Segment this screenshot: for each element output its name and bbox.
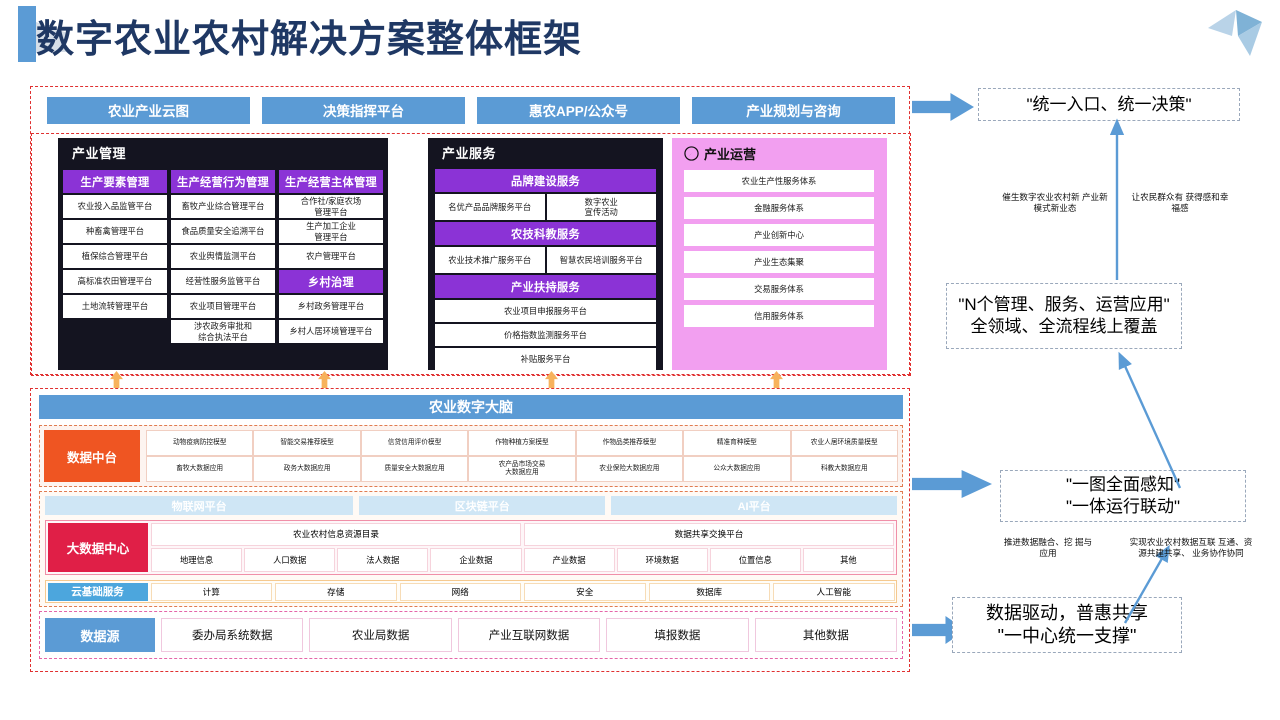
data-platform-app-4[interactable]: 农业保险大数据应用 [576, 456, 683, 482]
callout-one-map-perception: "一图全面感知" "一体运行联动" [1000, 470, 1246, 522]
management-group-head-0: 生产要素管理 [63, 170, 167, 193]
big-data-category-1[interactable]: 数据共享交换平台 [524, 523, 894, 546]
data-platform-model-5[interactable]: 精准育种模型 [683, 430, 790, 456]
data-source-items: 委办局系统数据农业局数据产业互联网数据填报数据其他数据 [161, 618, 897, 652]
service-item-1-1[interactable]: 智慧农民培训服务平台 [547, 247, 657, 273]
operation-item-0[interactable]: 农业生产性服务体系 [684, 170, 874, 192]
note-farmer-benefit: 让农民群众有 获得感和幸福感 [1130, 192, 1230, 215]
industry-operation-items: 农业生产性服务体系金融服务体系产业创新中心产业生态集聚交易服务体系信用服务体系 [684, 170, 874, 327]
management-item-2-0[interactable]: 合作社/家庭农场 管理平台 [279, 195, 383, 218]
app-button-3[interactable]: 产业规划与咨询 [692, 97, 895, 124]
arrow-up-to-applications [1120, 355, 1180, 488]
management-item-1-0[interactable]: 畜牧产业综合管理平台 [171, 195, 275, 218]
tech-platform-row: 物联网平台区块链平台AI平台 [45, 496, 897, 515]
callout-n-applications: "N个管理、服务、运营应用" 全领域、全流程线上覆盖 [946, 283, 1182, 349]
big-data-tag-1[interactable]: 人口数据 [244, 548, 335, 572]
industry-management-title: 产业管理 [58, 138, 388, 166]
management-item-2-2[interactable]: 农户管理平台 [279, 245, 383, 268]
service-item-2-1[interactable]: 价格指数监测服务平台 [435, 324, 656, 346]
service-item-2-0[interactable]: 农业项目申报服务平台 [435, 300, 656, 322]
data-platform-label: 数据中台 [44, 430, 140, 482]
data-platform-model-1[interactable]: 智能交易推荐模型 [253, 430, 360, 456]
service-pair-1: 农业技术推广服务平台智慧农民培训服务平台 [435, 247, 656, 273]
management-item-1-5[interactable]: 涉农政务审批和 综合执法平台 [171, 320, 275, 343]
management-item-0-2[interactable]: 植保综合管理平台 [63, 245, 167, 268]
big-data-tag-6[interactable]: 位置信息 [710, 548, 801, 572]
operation-item-4[interactable]: 交易服务体系 [684, 278, 874, 300]
big-data-tag-2[interactable]: 法人数据 [337, 548, 428, 572]
data-platform-column-4: 作物品类推荐模型农业保险大数据应用 [576, 430, 683, 482]
compass-icon [684, 146, 699, 161]
operation-item-1[interactable]: 金融服务体系 [684, 197, 874, 219]
management-item-1-4[interactable]: 农业项目管理平台 [171, 295, 275, 318]
management-item-2b-1[interactable]: 乡村人居环境管理平台 [279, 320, 383, 343]
industry-operation-title: 产业运营 [704, 144, 756, 163]
tech-platform-2[interactable]: AI平台 [611, 496, 897, 515]
cloud-service-item-1[interactable]: 存储 [275, 583, 397, 601]
tech-platform-1[interactable]: 区块链平台 [359, 496, 605, 515]
application-buttons-row: 农业产业云图决策指挥平台惠农APP/公众号产业规划与咨询 [31, 87, 911, 133]
management-column-0: 生产要素管理农业投入品监管平台种畜禽管理平台植保综合管理平台高标准农田管理平台土… [63, 170, 167, 343]
management-group-head-2: 生产经营主体管理 [279, 170, 383, 193]
service-item-2-2[interactable]: 补贴服务平台 [435, 348, 656, 370]
management-item-1-2[interactable]: 农业舆情监测平台 [171, 245, 275, 268]
data-platform-model-6[interactable]: 农业人居环境质量模型 [791, 430, 898, 456]
management-item-2-1[interactable]: 生产加工企业 管理平台 [279, 220, 383, 243]
service-group-head-1: 农技科教服务 [435, 222, 656, 245]
service-item-0-0[interactable]: 名优产品品牌服务平台 [435, 194, 545, 220]
data-platform-model-2[interactable]: 信贷信用评价模型 [361, 430, 468, 456]
data-platform-app-5[interactable]: 公众大数据应用 [683, 456, 790, 482]
management-item-1-3[interactable]: 经营性服务监管平台 [171, 270, 275, 293]
cloud-service-item-5[interactable]: 人工智能 [773, 583, 895, 601]
industry-operation-header: 产业运营 [672, 138, 887, 168]
cloud-service-item-2[interactable]: 网络 [400, 583, 522, 601]
data-platform-column-0: 动物疫病防控模型畜牧大数据应用 [146, 430, 253, 482]
triangle-logo-icon [1206, 6, 1268, 62]
data-source-item-4[interactable]: 其他数据 [755, 618, 897, 652]
management-column-2: 生产经营主体管理合作社/家庭农场 管理平台生产加工企业 管理平台农户管理平台乡村… [279, 170, 383, 343]
data-source-item-3[interactable]: 填报数据 [606, 618, 748, 652]
data-middle-platform: 数据中台 动物疫病防控模型畜牧大数据应用智能交易推荐模型政务大数据应用信贷信用评… [39, 425, 903, 487]
management-group-head-1: 生产经营行为管理 [171, 170, 275, 193]
digital-brain-frame: 农业数字大脑 数据中台 动物疫病防控模型畜牧大数据应用智能交易推荐模型政务大数据… [30, 388, 910, 672]
data-source-section: 数据源 委办局系统数据农业局数据产业互联网数据填报数据其他数据 [39, 611, 903, 659]
callout-data-driven: 数据驱动，普惠共享 "一中心统一支撑" [952, 597, 1182, 653]
big-data-center-box: 大数据中心 农业农村信息资源目录数据共享交换平台 地理信息人口数据法人数据企业数… [45, 520, 897, 575]
data-platform-column-6: 农业人居环境质量模型科教大数据应用 [791, 430, 898, 482]
data-platform-grid: 动物疫病防控模型畜牧大数据应用智能交易推荐模型政务大数据应用信贷信用评价模型质量… [146, 430, 898, 482]
big-data-tag-row: 地理信息人口数据法人数据企业数据产业数据环境数据位置信息其他 [151, 548, 894, 572]
page-title: 数字农业农村解决方案整体框架 [36, 8, 582, 63]
data-source-item-0[interactable]: 委办局系统数据 [161, 618, 303, 652]
cloud-service-box: 云基础服务 计算存储网络安全数据库人工智能 [45, 580, 897, 603]
service-pair-0: 名优产品品牌服务平台数字农业 宣传活动 [435, 194, 656, 220]
big-data-tag-0[interactable]: 地理信息 [151, 548, 242, 572]
page-header: 数字农业农村解决方案整体框架 [0, 0, 1280, 78]
management-group-head-2-b: 乡村治理 [279, 270, 383, 293]
app-button-2[interactable]: 惠农APP/公众号 [477, 97, 680, 124]
title-accent-bar [18, 6, 36, 62]
data-platform-app-3[interactable]: 农产品市场交易 大数据应用 [468, 456, 575, 482]
tech-platform-0[interactable]: 物联网平台 [45, 496, 353, 515]
cloud-service-item-3[interactable]: 安全 [524, 583, 646, 601]
big-data-center-label: 大数据中心 [48, 523, 148, 572]
data-platform-app-1[interactable]: 政务大数据应用 [253, 456, 360, 482]
big-data-category-0[interactable]: 农业农村信息资源目录 [151, 523, 521, 546]
management-item-0-0[interactable]: 农业投入品监管平台 [63, 195, 167, 218]
industry-management-panel: 产业管理 生产要素管理农业投入品监管平台种畜禽管理平台植保综合管理平台高标准农田… [58, 138, 388, 370]
management-item-0-3[interactable]: 高标准农田管理平台 [63, 270, 167, 293]
big-data-tag-7[interactable]: 其他 [803, 548, 894, 572]
app-button-1[interactable]: 决策指挥平台 [262, 97, 465, 124]
note-new-industry: 催生数字农业农村新 产业新模式新业态 [1000, 192, 1110, 215]
industry-service-groups: 品牌建设服务名优产品品牌服务平台数字农业 宣传活动农技科教服务农业技术推广服务平… [435, 169, 656, 370]
management-item-1-1[interactable]: 食品质量安全追溯平台 [171, 220, 275, 243]
industry-management-columns: 生产要素管理农业投入品监管平台种畜禽管理平台植保综合管理平台高标准农田管理平台土… [63, 170, 383, 343]
cloud-service-item-0[interactable]: 计算 [151, 583, 273, 601]
service-item-0-1[interactable]: 数字农业 宣传活动 [547, 194, 657, 220]
note-data-fusion: 推进数据融合、挖 掘与应用 [1000, 537, 1096, 560]
management-item-2b-0[interactable]: 乡村政务管理平台 [279, 295, 383, 318]
management-column-1: 生产经营行为管理畜牧产业综合管理平台食品质量安全追溯平台农业舆情监测平台经营性服… [171, 170, 275, 343]
service-item-1-0[interactable]: 农业技术推广服务平台 [435, 247, 545, 273]
data-platform-app-2[interactable]: 质量安全大数据应用 [361, 456, 468, 482]
cloud-service-item-4[interactable]: 数据库 [649, 583, 771, 601]
operation-item-5[interactable]: 信用服务体系 [684, 305, 874, 327]
data-platform-model-0[interactable]: 动物疫病防控模型 [146, 430, 253, 456]
right-arrow-icon-1 [912, 93, 974, 121]
data-source-item-1[interactable]: 农业局数据 [309, 618, 451, 652]
operation-item-3[interactable]: 产业生态集聚 [684, 251, 874, 273]
right-arrow-icon-2 [912, 470, 992, 498]
data-platform-column-3: 作物种植方案模型农产品市场交易 大数据应用 [468, 430, 575, 482]
service-group-head-2: 产业扶持服务 [435, 275, 656, 298]
data-platform-model-4[interactable]: 作物品类推荐模型 [576, 430, 683, 456]
app-button-0[interactable]: 农业产业云图 [47, 97, 250, 124]
operation-item-2[interactable]: 产业创新中心 [684, 224, 874, 246]
industry-service-panel: 产业服务 品牌建设服务名优产品品牌服务平台数字农业 宣传活动农技科教服务农业技术… [428, 138, 663, 370]
data-platform-app-6[interactable]: 科教大数据应用 [791, 456, 898, 482]
data-platform-column-1: 智能交易推荐模型政务大数据应用 [253, 430, 360, 482]
service-group-head-0: 品牌建设服务 [435, 169, 656, 192]
management-item-0-4[interactable]: 土地流转管理平台 [63, 295, 167, 318]
data-platform-column-5: 精准育种模型公众大数据应用 [683, 430, 790, 482]
industry-operation-panel: 产业运营 农业生产性服务体系金融服务体系产业创新中心产业生态集聚交易服务体系信用… [672, 138, 887, 370]
big-data-center-section: 物联网平台区块链平台AI平台 大数据中心 农业农村信息资源目录数据共享交换平台 … [39, 491, 903, 607]
management-item-0-1[interactable]: 种畜禽管理平台 [63, 220, 167, 243]
big-data-tag-3[interactable]: 企业数据 [430, 548, 521, 572]
note-data-interconnection: 实现农业农村数据互联 互通、资源共建共享、 业务协作协同 [1128, 537, 1254, 560]
data-platform-app-0[interactable]: 畜牧大数据应用 [146, 456, 253, 482]
digital-brain-banner: 农业数字大脑 [39, 395, 903, 419]
big-data-tag-4[interactable]: 产业数据 [524, 548, 615, 572]
data-source-label: 数据源 [45, 618, 155, 652]
big-data-category-row: 农业农村信息资源目录数据共享交换平台 [151, 523, 894, 546]
data-platform-model-3[interactable]: 作物种植方案模型 [468, 430, 575, 456]
data-platform-column-2: 信贷信用评价模型质量安全大数据应用 [361, 430, 468, 482]
industry-service-title: 产业服务 [428, 138, 663, 166]
data-source-item-2[interactable]: 产业互联网数据 [458, 618, 600, 652]
cloud-service-items: 计算存储网络安全数据库人工智能 [151, 583, 895, 601]
big-data-center-content: 农业农村信息资源目录数据共享交换平台 地理信息人口数据法人数据企业数据产业数据环… [151, 523, 894, 572]
cloud-service-label: 云基础服务 [48, 583, 148, 601]
big-data-tag-5[interactable]: 环境数据 [617, 548, 708, 572]
callout-unified-entry: "统一入口、统一决策" [978, 88, 1240, 121]
